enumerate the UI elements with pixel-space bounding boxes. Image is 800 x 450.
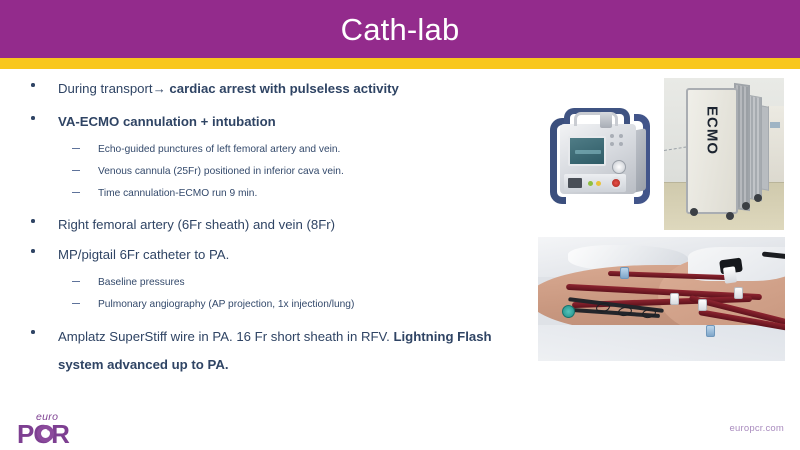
console-rotary-knob: [612, 160, 626, 174]
bullet-text: Right femoral artery (6Fr sheath) and ve…: [58, 217, 335, 232]
dash-marker-icon: [72, 192, 80, 193]
bullet-text: VA-ECMO cannulation + intubation: [58, 114, 276, 129]
bullet-dot-icon: [31, 116, 35, 120]
logo-ring-icon: [37, 425, 54, 442]
bullet-dot-icon: [31, 330, 35, 334]
console-emergency-button: [610, 177, 622, 189]
list-item: Amplatz SuperStiff wire in PA. 16 Fr sho…: [0, 323, 536, 379]
sub-bullet-text: Baseline pressures: [98, 277, 185, 288]
page-title: Cath-lab: [0, 0, 800, 58]
ecmo-transport-cases-photo: ECMO: [664, 78, 784, 230]
case-caster-wheel: [742, 202, 750, 210]
transport-case-distant-1: [748, 95, 762, 201]
tubing-clamp: [620, 267, 629, 279]
bullet-text: During transport→ cardiac arrest with pu…: [58, 81, 399, 96]
console-handle-grip: [600, 112, 612, 128]
bullet-dot-icon: [31, 249, 35, 253]
list-item: MP/pigtail 6Fr catheter to PA.: [0, 242, 536, 267]
case-caster-wheel: [754, 194, 762, 202]
list-item: Echo-guided punctures of left femoral ar…: [0, 139, 536, 161]
tubing-clamp: [670, 293, 679, 305]
tubing-connector-cap: [723, 266, 737, 284]
list-item: Pulmonary angiography (AP projection, 1x…: [0, 294, 536, 316]
console-display-screen: [568, 136, 606, 166]
sub-bullet-text: Pulmonary angiography (AP projection, 1x…: [98, 299, 354, 310]
bullet-dot-icon: [31, 83, 35, 87]
bullet-text: MP/pigtail 6Fr catheter to PA.: [58, 247, 229, 262]
header-accent-rule: [0, 58, 800, 69]
console-status-led-green: [588, 181, 593, 186]
tubing-clamp: [734, 287, 743, 299]
corridor-wall-sign: [770, 122, 780, 128]
footer-url: europcr.com: [730, 423, 784, 434]
femoral-cannulation-photo: [538, 237, 785, 361]
catheter-hub-cap: [562, 305, 575, 318]
list-item: VA-ECMO cannulation + intubation: [0, 109, 536, 134]
case-caster-wheel: [726, 212, 734, 220]
dash-marker-icon: [72, 170, 80, 171]
tubing-clamp: [706, 325, 715, 337]
list-item: Time cannulation-ECMO run 9 min.: [0, 183, 536, 205]
corridor-door: [768, 106, 784, 182]
case-caster-wheel: [690, 208, 698, 216]
tubing-clamp: [698, 299, 707, 311]
console-status-led-yellow: [596, 181, 601, 186]
transport-case-front: ECMO: [686, 88, 738, 214]
sub-bullet-text: Venous cannula (25Fr) positioned in infe…: [98, 166, 344, 177]
sub-bullet-text: Echo-guided punctures of left femoral ar…: [98, 144, 340, 155]
content-body: During transport→ cardiac arrest with pu…: [0, 76, 536, 379]
europcr-logo: euro PCR: [17, 411, 91, 445]
list-item: During transport→ cardiac arrest with pu…: [0, 76, 536, 101]
dash-marker-icon: [72, 281, 80, 282]
slide: Cath-lab During transport→ cardiac arres…: [0, 0, 800, 450]
ecmo-console-photo: [538, 78, 662, 230]
case-ecmo-label: ECMO: [704, 106, 721, 155]
console-button-cluster: [610, 134, 628, 154]
list-item: Venous cannula (25Fr) positioned in infe…: [0, 161, 536, 183]
dash-marker-icon: [72, 303, 80, 304]
surgical-sheet-lower: [538, 325, 785, 361]
console-power-jack: [568, 178, 582, 188]
dash-marker-icon: [72, 148, 80, 149]
bullet-text: Amplatz SuperStiff wire in PA. 16 Fr sho…: [58, 323, 528, 379]
list-item: Baseline pressures: [0, 272, 536, 294]
list-item: Right femoral artery (6Fr sheath) and ve…: [0, 212, 536, 237]
sub-bullet-text: Time cannulation-ECMO run 9 min.: [98, 188, 257, 199]
bullet-dot-icon: [31, 219, 35, 223]
